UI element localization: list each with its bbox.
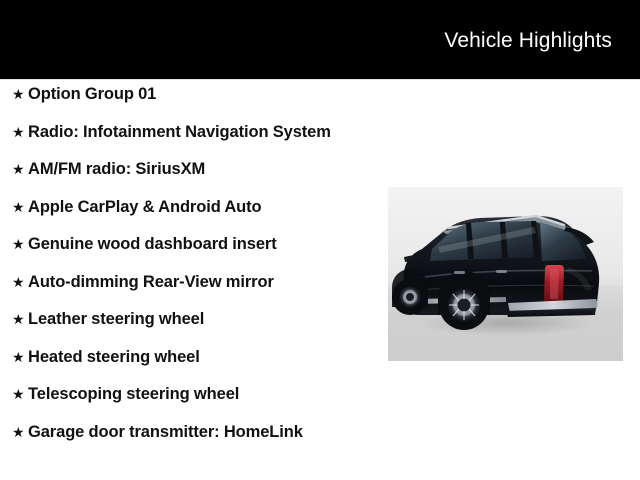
star-icon: ★ — [12, 196, 28, 218]
list-item: ★ Telescoping steering wheel — [0, 383, 372, 405]
list-item: ★ Apple CarPlay & Android Auto — [0, 196, 372, 218]
list-item-label: Leather steering wheel — [28, 308, 372, 330]
vehicle-photo — [388, 187, 623, 361]
list-item-label: Radio: Infotainment Navigation System — [28, 121, 372, 143]
list-item: ★ Option Group 01 — [0, 83, 372, 105]
list-item: ★ Garage door transmitter: HomeLink — [0, 421, 372, 443]
header-divider — [0, 79, 640, 80]
list-item-label: Auto-dimming Rear-View mirror — [28, 271, 372, 293]
star-icon: ★ — [12, 308, 28, 330]
star-icon: ★ — [12, 83, 28, 105]
list-item: ★ AM/FM radio: SiriusXM — [0, 158, 372, 180]
star-icon: ★ — [12, 271, 28, 293]
list-item: ★ Genuine wood dashboard insert — [0, 233, 372, 255]
star-icon: ★ — [12, 421, 28, 443]
list-item: ★ Heated steering wheel — [0, 346, 372, 368]
list-item: ★ Radio: Infotainment Navigation System — [0, 121, 372, 143]
header-bar: Vehicle Highlights — [0, 0, 640, 79]
page-title: Vehicle Highlights — [444, 29, 612, 53]
list-item-label: Telescoping steering wheel — [28, 383, 372, 405]
vehicle-highlights-page: Vehicle Highlights ★ Option Group 01 ★ R… — [0, 0, 640, 480]
vehicle-illustration — [388, 187, 623, 361]
vehicle-highlights-list: ★ Option Group 01 ★ Radio: Infotainment … — [0, 83, 372, 458]
star-icon: ★ — [12, 233, 28, 255]
list-item: ★ Auto-dimming Rear-View mirror — [0, 271, 372, 293]
list-item: ★ Leather steering wheel — [0, 308, 372, 330]
list-item-label: Option Group 01 — [28, 83, 372, 105]
list-item-label: Apple CarPlay & Android Auto — [28, 196, 372, 218]
star-icon: ★ — [12, 158, 28, 180]
list-item-label: Genuine wood dashboard insert — [28, 233, 372, 255]
star-icon: ★ — [12, 383, 28, 405]
star-icon: ★ — [12, 121, 28, 143]
list-item-label: Heated steering wheel — [28, 346, 372, 368]
list-item-label: AM/FM radio: SiriusXM — [28, 158, 372, 180]
star-icon: ★ — [12, 346, 28, 368]
list-item-label: Garage door transmitter: HomeLink — [28, 421, 372, 443]
